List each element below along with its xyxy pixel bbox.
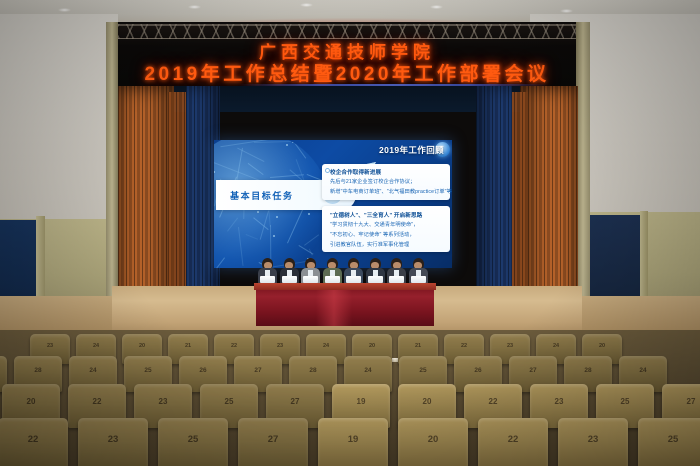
auditorium-seating: 2021222324202423222120242324252627282428… (0, 330, 700, 466)
curtain-orange-right (520, 86, 578, 316)
seat-number: 24 (69, 367, 117, 374)
seat-number: 19 (332, 397, 390, 406)
slide-card-b-line-4: 引进教官队伍，实行准军事化管理 (330, 241, 409, 248)
seat-number: 20 (398, 434, 468, 445)
slide-card-a-line-1: 先后与21家企业签订校企合作协议； (330, 178, 415, 185)
slide-card-a: 校企合作取得新进展 先后与21家企业签订校企合作协议； 新增"中车电商订单班"、… (322, 164, 450, 200)
slide-card-b-line-2: "学习贯彻十九大、交通青年明使命"， (330, 221, 418, 228)
auditorium-seat[interactable]: 25 (638, 418, 700, 466)
slide-card-a-heading: 校企合作取得新进展 (330, 168, 381, 176)
seat-number: 24 (619, 367, 667, 374)
auditorium-seat[interactable]: 25 (158, 418, 228, 466)
seat-number: 24 (76, 343, 116, 349)
slide-bullet-icon (325, 168, 330, 173)
nameplate (325, 276, 340, 283)
seat-number: 25 (158, 434, 228, 445)
seat-number: 23 (30, 343, 70, 349)
led-banner-line-2: 2019年工作总结暨2020年工作部署会议 (118, 59, 576, 86)
nameplate (368, 276, 383, 283)
seat-number: 22 (464, 397, 522, 406)
truss-structure (118, 24, 576, 39)
seat-number: 23 (260, 343, 300, 349)
ceiling-lamp-icon (188, 5, 201, 9)
slide-card-b-line-1: "立德树人"、"三全育人" 开启新思路 (330, 211, 422, 219)
seat-number: 23 (490, 343, 530, 349)
seat-number: 25 (399, 367, 447, 374)
seat-number: 22 (478, 434, 548, 445)
seat-number: 25 (596, 397, 654, 406)
seat-number: 24 (306, 343, 346, 349)
seat-number: 27 (0, 367, 7, 374)
seat-number: 25 (124, 367, 172, 374)
seat-number: 20 (582, 343, 622, 349)
head-table-top (254, 283, 436, 290)
seat-number: 26 (179, 367, 227, 374)
ceiling-lamp-icon (430, 5, 443, 9)
ceiling-lamp-icon (560, 9, 573, 13)
seat-number: 23 (530, 397, 588, 406)
seat-number: 23 (558, 434, 628, 445)
conference-photo: 广西交通技师学院 2019年工作总结暨2020年工作部署会议 2019年工作回顾… (0, 0, 700, 466)
nameplate (411, 276, 426, 283)
led-banner: 广西交通技师学院 2019年工作总结暨2020年工作部署会议 (118, 24, 576, 88)
seat-number: 19 (318, 434, 388, 445)
slide-pill-label: 基本目标任务 (230, 189, 294, 202)
slide-card-a-line-2: 新增"中车电商订单班"、"北气福田教practice订单"等 (330, 188, 452, 195)
seat-number: 21 (168, 343, 208, 349)
seat-number: 27 (509, 367, 557, 374)
seat-number: 25 (638, 434, 700, 445)
nameplate (346, 276, 361, 283)
seat-number: 22 (68, 397, 126, 406)
seat-number: 21 (398, 343, 438, 349)
seat-number: 20 (2, 397, 60, 406)
nameplate (389, 276, 404, 283)
seat-number: 20 (398, 397, 456, 406)
seat-number: 24 (536, 343, 576, 349)
seat-number: 27 (238, 434, 308, 445)
head-table-sheen (316, 288, 352, 326)
auditorium-seat[interactable]: 22 (0, 418, 68, 466)
seat-number: 28 (14, 367, 62, 374)
auditorium-seat[interactable]: 23 (78, 418, 148, 466)
curtain-blue-right (476, 86, 512, 308)
ceiling-lamp-icon (300, 3, 313, 7)
seat-number: 23 (134, 397, 192, 406)
nameplate (260, 276, 275, 283)
seat-number: 24 (344, 367, 392, 374)
projection-screen: 2019年工作回顾 基本目标任务 校企合作取得新进展 先后与21家企业签订校企合… (214, 140, 452, 268)
seat-number: 23 (78, 434, 148, 445)
seat-number: 28 (289, 367, 337, 374)
seat-number: 27 (266, 397, 324, 406)
seat-number: 27 (662, 397, 700, 406)
seat-number: 27 (234, 367, 282, 374)
seat-number: 28 (564, 367, 612, 374)
curtain-orange-left (118, 86, 174, 316)
ceiling-lamp-icon (58, 8, 71, 12)
seat-number: 20 (122, 343, 162, 349)
auditorium-seat[interactable]: 19 (318, 418, 388, 466)
slide-card-b: "立德树人"、"三全育人" 开启新思路 "学习贯彻十九大、交通青年明使命"， "… (322, 206, 450, 252)
auditorium-seat[interactable]: 20 (398, 418, 468, 466)
slide-header: 2019年工作回顾 (379, 144, 444, 156)
auditorium-seat[interactable]: 27 (238, 418, 308, 466)
slide-card-b-line-3: "不忘初心、牢记使命" 等系列活动， (330, 231, 415, 238)
seat-number: 22 (214, 343, 254, 349)
auditorium-seat[interactable]: 23 (558, 418, 628, 466)
seat-number: 25 (200, 397, 258, 406)
nameplate (303, 276, 318, 283)
nameplate (282, 276, 297, 283)
backdrop-top-dark (174, 86, 524, 112)
seat-number: 22 (444, 343, 484, 349)
seat-number: 20 (352, 343, 392, 349)
seat-number: 22 (0, 434, 68, 445)
auditorium-seat[interactable]: 22 (478, 418, 548, 466)
seat-number: 26 (454, 367, 502, 374)
